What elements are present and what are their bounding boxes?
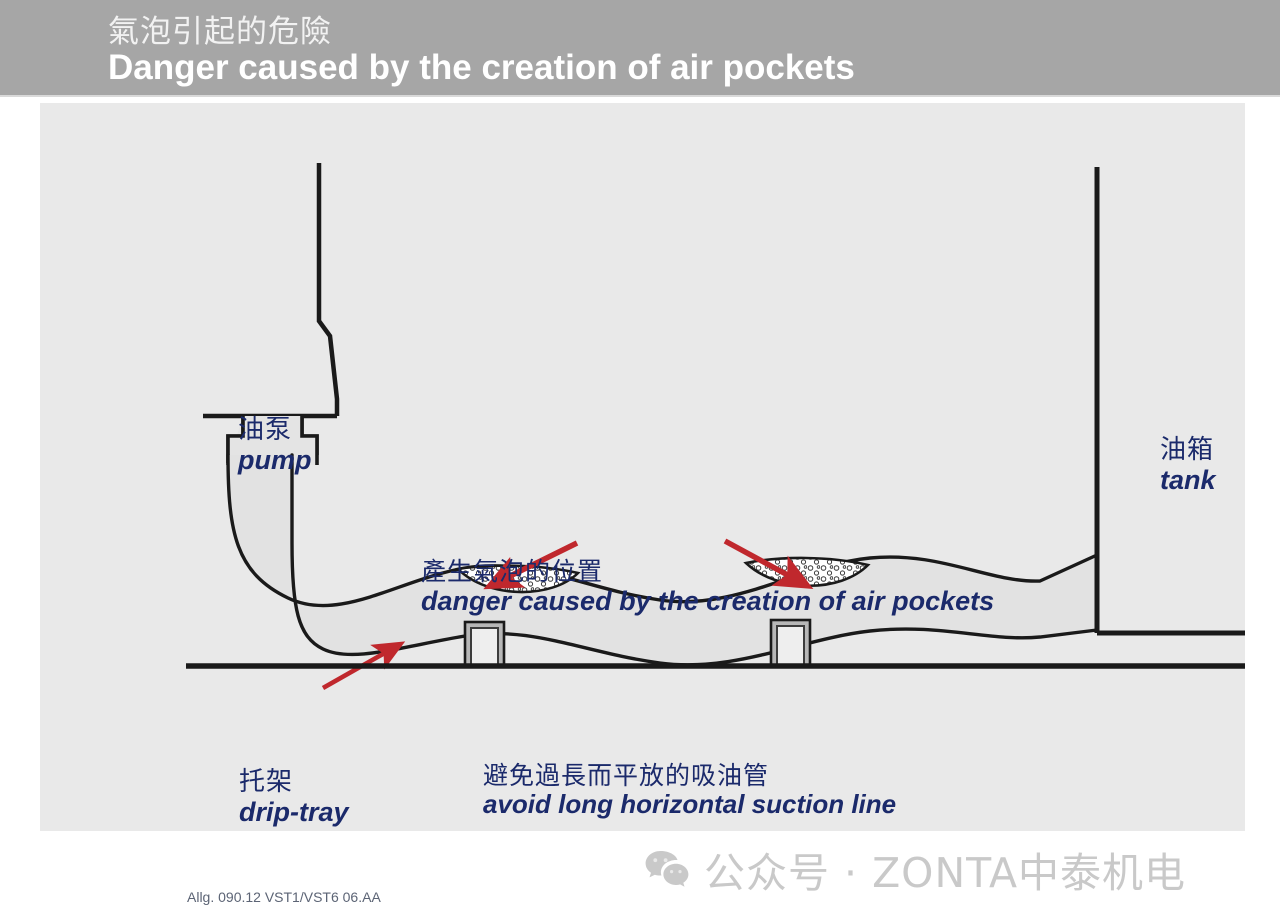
oil-tank — [1097, 167, 1245, 633]
wechat-icon — [644, 849, 690, 889]
pump-body — [203, 163, 337, 416]
label-suction-line: 避免過長而平放的吸油管 avoid long horizontal suctio… — [483, 762, 896, 819]
hydraulic-schematic — [40, 103, 1245, 831]
label-air-pockets-chinese: 產生氣泡的位置 — [421, 558, 994, 586]
drawing-reference-code: Allg. 090.12 VST1/VST6 06.AA — [187, 889, 381, 905]
header-title-english: Danger caused by the creation of air poc… — [108, 48, 855, 88]
label-tank: 油箱 tank — [1160, 436, 1216, 495]
label-drip-tray-english: drip-tray — [239, 797, 349, 827]
label-suction-line-english: avoid long horizontal suction line — [483, 790, 896, 819]
pipe-support-right — [771, 620, 810, 666]
label-pump-chinese: 油泵 — [238, 416, 312, 445]
label-air-pockets-english: danger caused by the creation of air poc… — [421, 586, 994, 616]
label-tank-english: tank — [1160, 465, 1216, 495]
header-band: 氣泡引起的危險 Danger caused by the creation of… — [0, 0, 1280, 96]
label-pump-english: pump — [238, 445, 312, 475]
label-drip-tray: 托架 drip-tray — [239, 768, 349, 827]
pipe-support-left — [465, 622, 504, 666]
wechat-watermark: 公众号 · ZONTA中泰机电 — [644, 839, 1186, 899]
label-tank-chinese: 油箱 — [1160, 436, 1216, 465]
label-suction-line-chinese: 避免過長而平放的吸油管 — [483, 762, 896, 790]
label-pump: 油泵 pump — [238, 416, 312, 475]
header-title-chinese: 氣泡引起的危險 — [108, 6, 332, 51]
label-drip-tray-chinese: 托架 — [239, 768, 349, 797]
header-divider — [0, 95, 1280, 97]
label-air-pockets: 產生氣泡的位置 danger caused by the creation of… — [421, 558, 994, 616]
diagram-canvas: 油泵 pump 油箱 tank 產生氣泡的位置 danger caused by… — [40, 103, 1245, 831]
wechat-watermark-text: 公众号 · ZONTA中泰机电 — [704, 839, 1186, 899]
